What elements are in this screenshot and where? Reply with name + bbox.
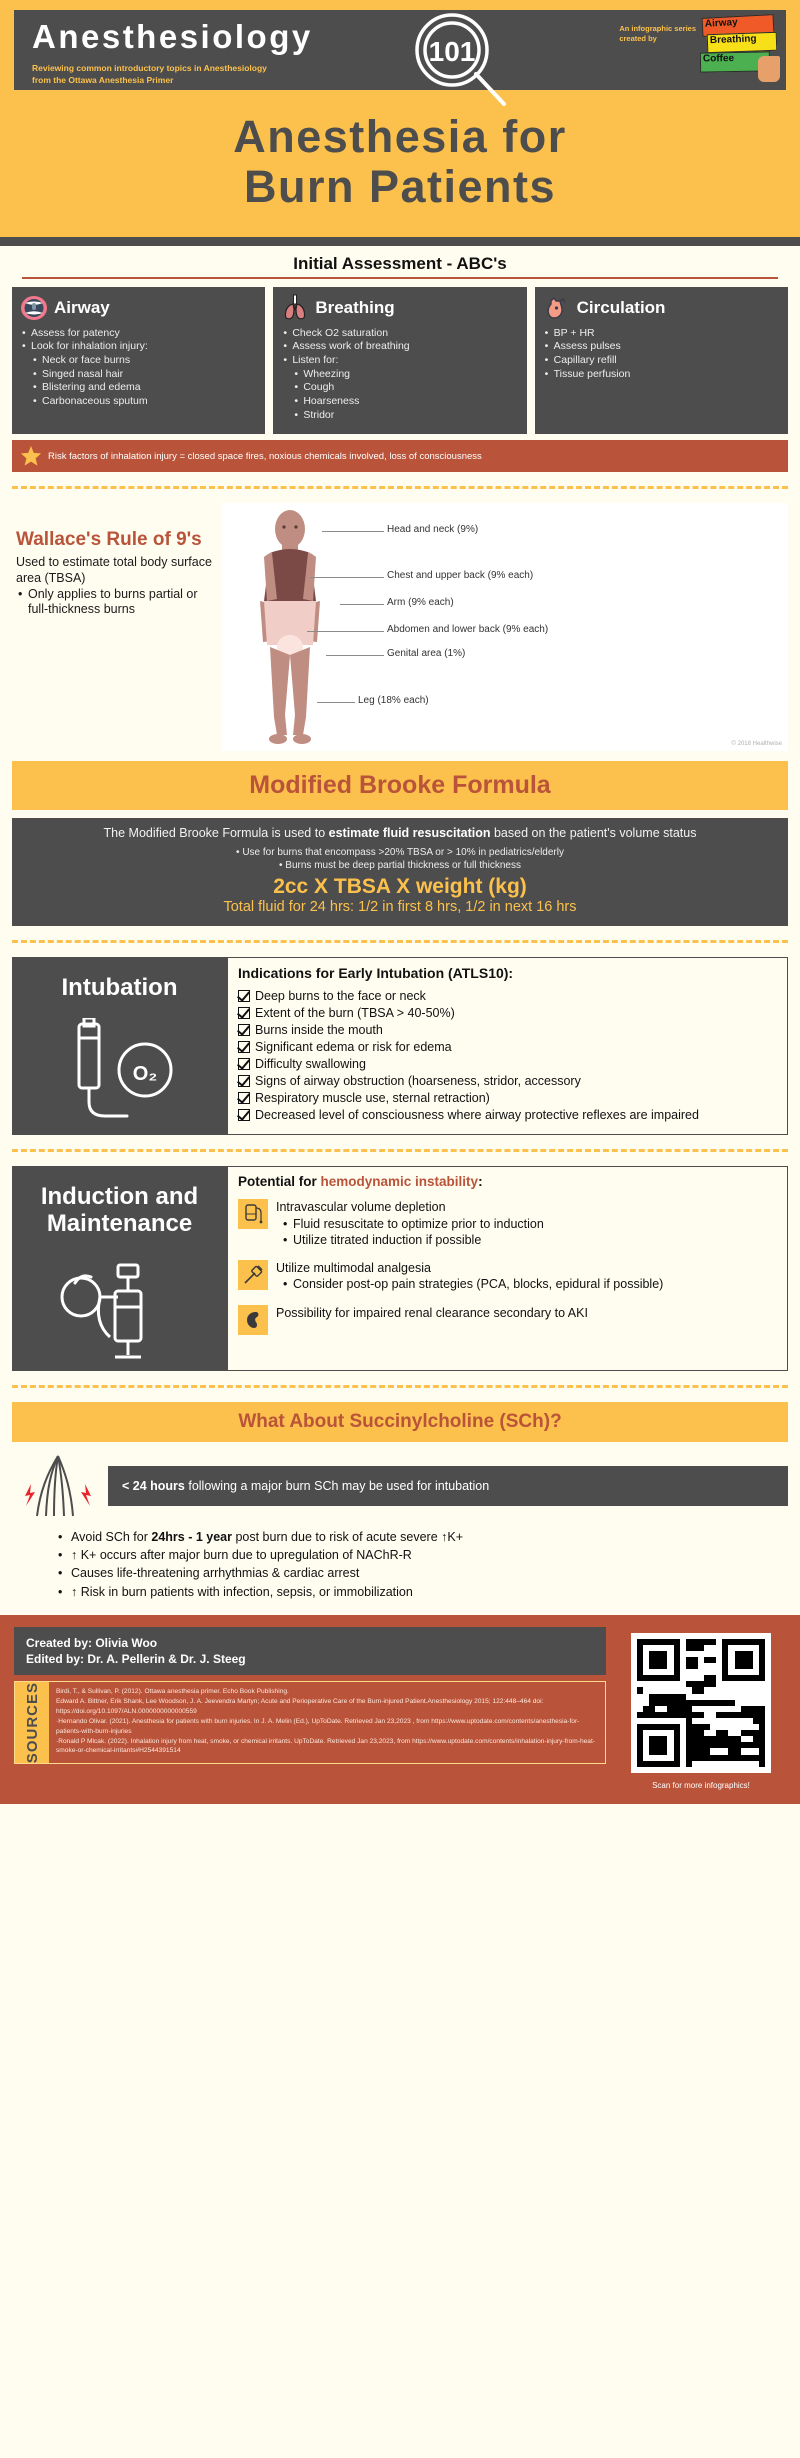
list-item-label: Significant edema or risk for edema (255, 1039, 452, 1055)
induction-item-title: Intravascular volume depletion (276, 1199, 544, 1215)
credits-box: Created by: Olivia Woo Edited by: Dr. A.… (14, 1627, 606, 1675)
anesthesia-machine-icon (45, 1251, 195, 1371)
list-item: Check O2 saturation (281, 327, 518, 341)
open-mouth-icon (20, 294, 48, 322)
checkbox-icon[interactable] (238, 1092, 250, 1104)
diagram-label-leg: Leg (18% each) (358, 695, 429, 706)
spacer (0, 751, 800, 761)
abc-card-header: Circulation (543, 294, 780, 322)
diagram-label-abdomen: Abdomen and lower back (9% each) (387, 624, 548, 635)
induction-item-title: Possibility for impaired renal clearance… (276, 1305, 588, 1321)
list-item: Assess for patency (20, 327, 257, 341)
list-item-label: Extent of the burn (TBSA > 40-50%) (255, 1005, 455, 1021)
edited-by: Edited by: Dr. A. Pellerin & Dr. J. Stee… (26, 1651, 594, 1667)
body-figure-icon (230, 507, 350, 747)
brooke-formula: 2cc X TBSA X weight (kg) (26, 875, 774, 899)
kidney-icon (238, 1305, 268, 1335)
checkbox-icon[interactable] (238, 1024, 250, 1036)
list-item: Causes life-threatening arrhythmias & ca… (58, 1564, 760, 1582)
brooke-list: Use for burns that encompass >20% TBSA o… (26, 846, 774, 873)
list-item[interactable]: Difficulty swallowing (238, 1056, 777, 1072)
list-item: Listen for: (281, 354, 518, 368)
page-title-line1: Anesthesia for (14, 112, 786, 162)
sources-text: Birdi, T., & Sullivan, P. (2012). Ottawa… (49, 1682, 605, 1763)
header: Anesthesiology Reviewing common introduc… (0, 0, 800, 237)
abc-sublist: Neck or face burns Singed nasal hair Bli… (31, 354, 257, 409)
wallace-body: Used to estimate total body surface area… (16, 555, 216, 617)
syringe-icon (238, 1260, 268, 1290)
induction-sublist: Consider post-op pain strategies (PCA, b… (280, 1276, 663, 1292)
induction-heading: Potential for hemodynamic instability: (238, 1174, 777, 1189)
divider-dashed (12, 940, 788, 943)
induction-title-line2: Maintenance (41, 1211, 198, 1237)
checkbox-icon[interactable] (238, 990, 250, 1002)
list-item[interactable]: Burns inside the mouth (238, 1022, 777, 1038)
brooke-banner: Modified Brooke Formula (12, 761, 788, 810)
header-divider (0, 237, 800, 246)
list-item: Cough (292, 381, 518, 395)
risk-factors-text: Risk factors of inhalation injury = clos… (48, 451, 482, 462)
sources-box: SOURCES Birdi, T., & Sullivan, P. (2012)… (14, 1681, 606, 1764)
induction-left: Induction and Maintenance (12, 1166, 227, 1371)
divider-dashed (12, 1149, 788, 1152)
list-item: Capillary refill (543, 354, 780, 368)
wallace-section: Wallace's Rule of 9's Used to estimate t… (0, 503, 800, 751)
label-airway-text: Airway (705, 17, 738, 30)
list-item: ↑ K+ occurs after major burn due to upre… (58, 1546, 760, 1564)
sch-bullet-pre: Avoid SCh for (71, 1530, 151, 1544)
sch-bullet-bold: 24hrs - 1 year (151, 1530, 232, 1544)
wallace-heading: Wallace's Rule of 9's (16, 529, 216, 551)
abc-card-title: Airway (54, 298, 110, 318)
drug-labels-image: Airway Breathing Coffee (700, 16, 778, 78)
sch-bullet-list: Avoid SCh for 24hrs - 1 year post burn d… (58, 1528, 760, 1601)
wallace-diagram: Head and neck (9%) Chest and upper back … (222, 503, 788, 751)
hand-icon (758, 56, 780, 82)
list-item: ↑ Risk in burn patients with infection, … (58, 1583, 760, 1601)
brooke-lead: The Modified Brooke Formula is used to e… (26, 826, 774, 842)
brand-left: Anesthesiology Reviewing common introduc… (32, 18, 313, 86)
sources-tab: SOURCES (15, 1682, 49, 1763)
label-coffee-text: Coffee (703, 53, 734, 65)
list-item: Assess pulses (543, 340, 780, 354)
label-breathing-text: Breathing (710, 33, 757, 46)
list-item-label: Deep burns to the face or neck (255, 988, 426, 1004)
oxygen-tank-icon: O₂ (55, 1018, 185, 1128)
diagram-label-chest: Chest and upper back (9% each) (387, 570, 533, 581)
brooke-formula-note: Total fluid for 24 hrs: 1/2 in first 8 h… (26, 899, 774, 916)
oxygen-label: O₂ (132, 1063, 156, 1085)
wallace-text-block: Wallace's Rule of 9's Used to estimate t… (12, 503, 222, 617)
qr-grid (637, 1639, 765, 1767)
abc-card-airway: Airway Assess for patency Look for inhal… (12, 287, 265, 434)
checkbox-icon[interactable] (238, 1109, 250, 1121)
brooke-lead-pre: The Modified Brooke Formula is used to (104, 826, 329, 840)
induction-title-line1: Induction and (41, 1184, 198, 1210)
scan-text: Scan for more infographics! (652, 1781, 750, 1790)
wallace-list: Only applies to burns partial or full-th… (16, 587, 216, 618)
iv-bag-icon (238, 1199, 268, 1229)
magnifier-icon: 101 (404, 12, 524, 112)
brooke-body: The Modified Brooke Formula is used to e… (12, 818, 788, 926)
induction-item-text: Possibility for impaired renal clearance… (276, 1305, 588, 1321)
diagram-label-genital: Genital area (1%) (387, 648, 465, 659)
abc-card-circulation: Circulation BP + HR Assess pulses Capill… (535, 287, 788, 434)
sch-statement-bold: < 24 hours (122, 1479, 185, 1493)
intubation-left: Intubation O₂ (12, 957, 227, 1135)
series-note-line2: created by (619, 34, 696, 44)
sch-banner: What About Succinylcholine (SCh)? (12, 1402, 788, 1442)
brand-bar: Anesthesiology Reviewing common introduc… (14, 10, 786, 90)
induction-heading-post: : (478, 1174, 483, 1189)
sch-statement-rest: following a major burn SCh may be used f… (185, 1479, 489, 1493)
muscle-fiber-icon (12, 1454, 104, 1518)
footer-right: Scan for more infographics! (616, 1627, 786, 1790)
list-item: Utilize titrated induction if possible (280, 1232, 544, 1248)
abc-section-title: Initial Assessment - ABC's (12, 246, 788, 277)
list-item-label: Burns inside the mouth (255, 1022, 383, 1038)
brand-subtitle: Reviewing common introductory topics in … (32, 62, 313, 87)
checkbox-icon[interactable] (238, 1075, 250, 1087)
list-item-label: Respiratory muscle use, sternal retracti… (255, 1090, 490, 1106)
induction-item-title: Utilize multimodal analgesia (276, 1260, 663, 1276)
badge-101-text: 101 (429, 36, 476, 67)
list-item: Stridor (292, 409, 518, 423)
list-item: Look for inhalation injury: (20, 340, 257, 354)
intubation-list-heading: Indications for Early Intubation (ATLS10… (238, 965, 777, 981)
leader-line (317, 702, 355, 703)
brooke-banner-title: Modified Brooke Formula (12, 771, 788, 800)
list-item[interactable]: Decreased level of consciousness where a… (238, 1107, 777, 1123)
list-item: Singed nasal hair (31, 368, 257, 382)
list-item: Consider post-op pain strategies (PCA, b… (280, 1276, 663, 1292)
footer-left: Created by: Olivia Woo Edited by: Dr. A.… (14, 1627, 606, 1790)
leader-line (340, 604, 384, 605)
list-item: Use for burns that encompass >20% TBSA o… (26, 846, 774, 860)
source-entry: Birdi, T., & Sullivan, P. (2012). Ottawa… (56, 1687, 598, 1697)
checkbox-icon[interactable] (238, 1058, 250, 1070)
abc-card-row: Airway Assess for patency Look for inhal… (12, 287, 788, 434)
series-note-line1: An infographic series (619, 24, 696, 34)
source-entry: ·Ronald P Mlcak. (2022). Inhalation inju… (56, 1737, 598, 1757)
divider-dashed (12, 1385, 788, 1388)
heart-icon (543, 294, 571, 322)
induction-item-volume: Intravascular volume depletion Fluid res… (238, 1199, 777, 1248)
page-title-line2: Burn Patients (14, 162, 786, 212)
list-item: Neck or face burns (31, 354, 257, 368)
brooke-lead-post: based on the patient's volume status (490, 826, 696, 840)
induction-item-renal: Possibility for impaired renal clearance… (238, 1305, 777, 1335)
list-item: Blistering and edema (31, 381, 257, 395)
qr-code[interactable] (631, 1633, 771, 1773)
leader-line (310, 577, 384, 578)
abc-rule (22, 277, 778, 279)
list-item: Tissue perfusion (543, 368, 780, 382)
leader-line (322, 531, 384, 532)
list-item: Fluid resuscitate to optimize prior to i… (280, 1216, 544, 1232)
sources-tab-label: SOURCES (24, 1682, 41, 1763)
abc-list: Check O2 saturation Assess work of breat… (281, 327, 518, 422)
abc-card-title: Breathing (315, 298, 394, 318)
wallace-description: Used to estimate total body surface area… (16, 555, 216, 586)
infographic-page: Anesthesiology Reviewing common introduc… (0, 0, 800, 1804)
sch-bullet-post: post burn due to risk of acute severe ↑K… (232, 1530, 463, 1544)
abc-card-title: Circulation (577, 298, 666, 318)
brooke-lead-bold: estimate fluid resuscitation (329, 826, 491, 840)
induction-item-text: Intravascular volume depletion Fluid res… (276, 1199, 544, 1248)
list-item[interactable]: Deep burns to the face or neck (238, 988, 777, 1004)
list-item[interactable]: Significant edema or risk for edema (238, 1039, 777, 1055)
intubation-right: Indications for Early Intubation (ATLS10… (227, 957, 788, 1135)
abc-sublist: Wheezing Cough Hoarseness Stridor (292, 368, 518, 423)
list-item: Assess work of breathing (281, 340, 518, 354)
list-item: Only applies to burns partial or full-th… (16, 587, 216, 618)
induction-item-analgesia: Utilize multimodal analgesia Consider po… (238, 1260, 777, 1293)
induction-section: Induction and Maintenance Potential for … (12, 1166, 788, 1371)
abc-card-breathing: Breathing Check O2 saturation Assess wor… (273, 287, 526, 434)
brand-subtitle-line2: from the Ottawa Anesthesia Primer (32, 74, 313, 86)
lungs-icon (281, 294, 309, 322)
risk-factors-banner: Risk factors of inhalation injury = clos… (12, 440, 788, 472)
induction-sublist: Fluid resuscitate to optimize prior to i… (280, 1216, 544, 1249)
divider-dashed (12, 486, 788, 489)
brand-title: Anesthesiology (32, 20, 313, 55)
induction-right: Potential for hemodynamic instability: I… (227, 1166, 788, 1371)
list-item-label: Decreased level of consciousness where a… (255, 1107, 699, 1123)
induction-heading-pre: Potential for (238, 1174, 321, 1189)
source-entry: ·Hernando Olivar. (2021). Anesthesia for… (56, 1717, 598, 1737)
series-note: An infographic series created by (619, 16, 696, 44)
checkbox-icon[interactable] (238, 1007, 250, 1019)
brand-subtitle-line1: Reviewing common introductory topics in … (32, 62, 313, 74)
list-item: Carbonaceous sputum (31, 395, 257, 409)
list-item[interactable]: Signs of airway obstruction (hoarseness,… (238, 1073, 777, 1089)
diagram-label-arm: Arm (9% each) (387, 597, 454, 608)
list-item: Burns must be deep partial thickness or … (26, 859, 774, 873)
intubation-section: Intubation O₂ Indications for Early Intu… (12, 957, 788, 1135)
label-breathing: Breathing (707, 32, 778, 53)
leader-line (326, 655, 384, 656)
sch-statement-bar: < 24 hours following a major burn SCh ma… (108, 1466, 788, 1506)
abc-card-header: Airway (20, 294, 257, 322)
abc-list: BP + HR Assess pulses Capillary refill T… (543, 327, 780, 382)
diagram-label-head: Head and neck (9%) (387, 524, 478, 535)
induction-heading-highlight: hemodynamic instability (321, 1174, 479, 1189)
list-item: Wheezing (292, 368, 518, 382)
induction-title: Induction and Maintenance (41, 1184, 198, 1237)
abc-section: Initial Assessment - ABC's Airway Assess… (0, 246, 800, 434)
series-logo: An infographic series created by Airway … (619, 16, 778, 78)
intubation-checklist: Deep burns to the face or neck Extent of… (238, 988, 777, 1123)
list-item-label: Signs of airway obstruction (hoarseness,… (255, 1073, 581, 1089)
induction-item-text: Utilize multimodal analgesia Consider po… (276, 1260, 663, 1293)
list-item: Avoid SCh for 24hrs - 1 year post burn d… (58, 1528, 760, 1546)
sch-banner-title: What About Succinylcholine (SCh)? (12, 1411, 788, 1433)
list-item: BP + HR (543, 327, 780, 341)
list-item: Hoarseness (292, 395, 518, 409)
page-title: Anesthesia for Burn Patients (14, 90, 786, 237)
source-entry: Edward A. Bittner, Erik Shank, Lee Woods… (56, 1697, 598, 1717)
list-item-label: Difficulty swallowing (255, 1056, 366, 1072)
abc-card-header: Breathing (281, 294, 518, 322)
star-icon (20, 445, 42, 467)
footer: Created by: Olivia Woo Edited by: Dr. A.… (0, 1615, 800, 1804)
abc-list: Assess for patency Look for inhalation i… (20, 327, 257, 409)
checkbox-icon[interactable] (238, 1041, 250, 1053)
list-item[interactable]: Extent of the burn (TBSA > 40-50%) (238, 1005, 777, 1021)
created-by: Created by: Olivia Woo (26, 1635, 594, 1651)
intubation-title: Intubation (62, 975, 178, 1001)
leader-line (307, 631, 384, 632)
list-item[interactable]: Respiratory muscle use, sternal retracti… (238, 1090, 777, 1106)
sch-row: < 24 hours following a major burn SCh ma… (12, 1454, 788, 1518)
diagram-copyright: © 2018 Healthwise (732, 741, 782, 747)
